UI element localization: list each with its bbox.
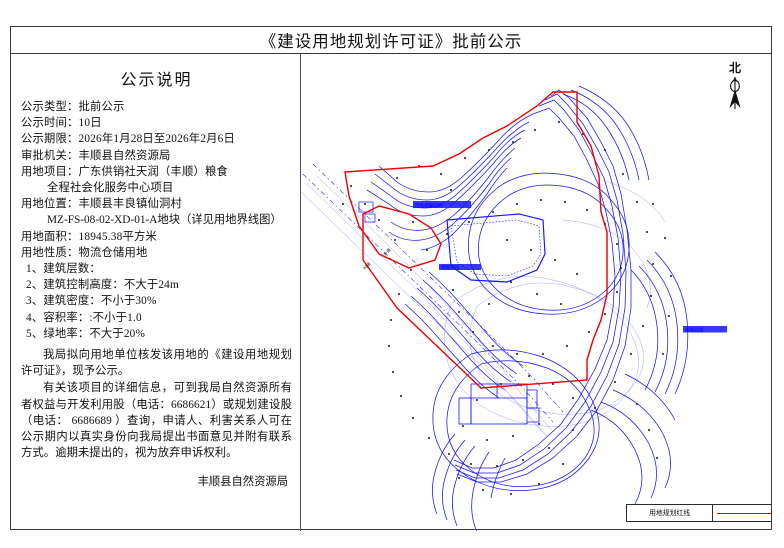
field-approval-authority-label: 审批机关： <box>21 150 79 162</box>
document-body: 公示说明 公示类型：批前公示 公示时间：10日 公示期限：2026年1月28日至… <box>11 54 771 531</box>
title-band: 《建设用地规划许可证》批前公示 <box>11 27 771 54</box>
map-legend: 用地规划红线 <box>626 504 771 522</box>
page-title: 《建设用地规划许可证》批前公示 <box>260 28 523 52</box>
topographic-survey-map: 用地规划红线 用地界线 规划红线 乡道 村道 <box>301 54 771 531</box>
notice-paragraph-2: 有关该项目的详细信息，可到我局自然资源所有者权益与开发利用股（电话：668662… <box>21 380 292 461</box>
notice-signoff: 丰顺县自然资源局 <box>21 474 292 490</box>
indicator-building-height: 2、建筑控制高度：不大于24m <box>21 277 292 293</box>
notice-paragraph-1: 我局拟向用地单位核发该用地的《建设用地规划许可证》，现予公示。 <box>21 347 292 379</box>
field-land-area-label: 用地面积： <box>21 231 79 243</box>
field-parcel-code: MZ-FS-08-02-XD-01-A地块（详见用地界线图） <box>21 212 292 228</box>
north-label: 北 <box>721 62 749 75</box>
legend-swatch-cell <box>713 505 771 521</box>
indicator-building-floors: 1、建筑层数： <box>21 261 292 277</box>
field-location: 用地位置：丰顺县丰良镇仙洞村 <box>21 196 292 212</box>
notice-heading: 公示说明 <box>21 66 292 90</box>
indicator-green-ratio: 5、绿地率：不大于20% <box>21 326 292 342</box>
legend-label-cell: 用地规划红线 <box>627 505 713 521</box>
north-arrow: 北 <box>721 62 749 114</box>
planning-red-boundary <box>345 92 607 388</box>
legend-red-line-swatch <box>717 513 771 514</box>
field-notice-duration: 公示时间：10日 <box>21 115 292 131</box>
field-land-nature-value: 物流仓储用地 <box>79 247 148 259</box>
field-land-area: 用地面积：18945.38平方米 <box>21 229 292 245</box>
annotation-label-2: 用地界线 <box>441 264 460 271</box>
field-project-value: 广东供销社天润（丰顺）粮食 <box>79 166 228 178</box>
field-notice-duration-label: 公示时间： <box>21 117 79 129</box>
road-faint-line <box>301 188 547 436</box>
field-notice-period-value: 2026年1月28日至2026年2月6日 <box>79 133 236 145</box>
field-notice-duration-value: 10日 <box>79 117 102 129</box>
field-project-line2: 全程社会化服务中心项目 <box>21 180 292 196</box>
legend-label: 用地规划红线 <box>649 508 690 518</box>
field-land-area-value: 18945.38平方米 <box>79 231 157 243</box>
contour-group-main <box>367 86 688 531</box>
field-approval-authority-value: 丰顺县自然资源局 <box>79 150 171 162</box>
field-land-nature: 用地性质：物流仓储用地 <box>21 245 292 261</box>
field-notice-type: 公示类型：批前公示 <box>21 99 292 115</box>
field-notice-period: 公示期限：2026年1月28日至2026年2月6日 <box>21 131 292 147</box>
map-panel: 北 <box>301 54 771 531</box>
notice-text-panel: 公示说明 公示类型：批前公示 公示时间：10日 公示期限：2026年1月28日至… <box>11 54 301 531</box>
field-location-label: 用地位置： <box>21 198 79 210</box>
field-notice-period-label: 公示期限： <box>21 133 79 145</box>
field-notice-type-value: 批前公示 <box>79 101 125 113</box>
field-approval-authority: 审批机关：丰顺县自然资源局 <box>21 148 292 164</box>
building-footprints <box>459 384 539 424</box>
field-project-label: 用地项目： <box>21 166 79 178</box>
north-arrow-icon <box>721 75 749 111</box>
road-label-2: 村道 <box>361 260 372 271</box>
field-land-nature-label: 用地性质： <box>21 247 79 259</box>
indicator-building-density: 3、建筑密度：不小于30% <box>21 293 292 309</box>
document-sheet: 《建设用地规划许可证》批前公示 公示说明 公示类型：批前公示 公示时间：10日 … <box>10 26 772 530</box>
field-project: 用地项目：广东供销社天润（丰顺）粮食 <box>21 164 292 180</box>
annotation-label-3: 规划红线 <box>685 327 704 334</box>
indicator-floor-area-ratio: 4、容积率：:不小于1.0 <box>21 310 292 326</box>
annotation-label-1: 用地规划红线 <box>415 202 443 209</box>
field-notice-type-label: 公示类型： <box>21 101 79 113</box>
field-location-value: 丰顺县丰良镇仙洞村 <box>79 198 182 210</box>
